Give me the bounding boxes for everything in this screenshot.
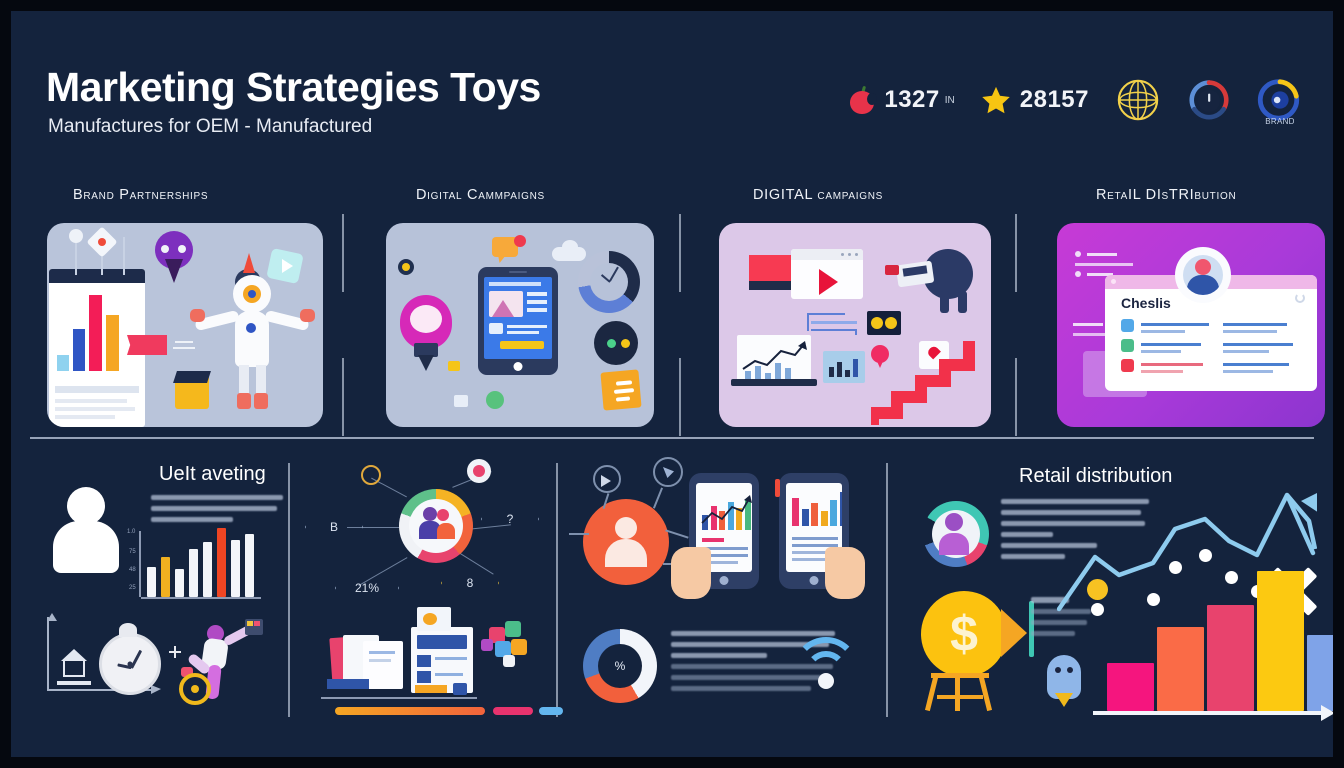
person-silhouette-icon <box>53 487 119 573</box>
page-subtitle: Manufactures for OEM - Manufactured <box>48 116 372 138</box>
dollar-coin-icon: $ <box>921 591 1007 677</box>
column-label-4: RetaIL DIsTRIbution <box>1096 187 1236 203</box>
panel-mobile-analytics: % <box>567 451 877 721</box>
gauge-icon[interactable] <box>1187 78 1231 122</box>
chart-node <box>1091 603 1104 616</box>
progress-bar-3 <box>539 707 563 715</box>
badge-apple[interactable]: 1327 IN <box>849 86 954 114</box>
divider-vertical-3b <box>1015 358 1017 436</box>
column-label-3: DIGITAL campaigns <box>753 187 883 203</box>
panel-unit-averaging: UeIt aveting 1.0 75 48 25 <box>31 451 287 721</box>
header-badges: 1327 IN 28157 <box>849 69 1303 131</box>
globe-icon[interactable] <box>1115 77 1161 123</box>
badge-apple-sup: IN <box>945 95 955 106</box>
hex-node-2: ? <box>481 493 539 545</box>
panel-retail-distribution: Retail distribution $ <box>897 451 1317 721</box>
column-label-2: Digital Cammpaigns <box>416 187 545 203</box>
divider-vertical-3a <box>1015 214 1017 292</box>
hex-node-1: B <box>305 501 363 553</box>
badge-star-value: 28157 <box>1020 86 1089 114</box>
panel1-chart-xaxis <box>141 597 261 599</box>
percent-donut-label: % <box>615 659 626 673</box>
panel4-chart-axis <box>1093 711 1329 715</box>
star-icon <box>981 85 1011 115</box>
divider-vertical-1a <box>342 214 344 292</box>
divider-vertical-2a <box>679 214 681 292</box>
divider-vertical-b1 <box>288 463 290 717</box>
brand-logo-label: BRAND <box>1257 117 1303 126</box>
clock-icon <box>99 633 161 695</box>
divider-vertical-b3 <box>886 463 888 717</box>
panel1-chart-yaxis <box>139 531 141 597</box>
chart-node <box>1199 549 1212 562</box>
panel1-heading: UeIt aveting <box>159 463 266 486</box>
column-label-1: Brand Partnerships <box>73 187 208 203</box>
infographic-poster: Marketing Strategies Toys Manufactures f… <box>11 11 1333 757</box>
small-circle-1 <box>361 465 381 485</box>
card-brand-partnerships[interactable] <box>47 223 323 427</box>
hand-left-icon <box>671 547 711 599</box>
divider-vertical-2b <box>679 358 681 436</box>
projector-cone <box>1001 609 1027 657</box>
divider-horizontal <box>30 437 1314 439</box>
card-retail-distribution[interactable]: Cheslis <box>1057 223 1325 427</box>
badge-apple-value: 1327 <box>884 86 939 114</box>
divider-vertical-1b <box>342 358 344 436</box>
panel1-bar-chart <box>147 527 254 597</box>
card-digital-cammpaigns[interactable] <box>386 223 654 427</box>
progress-bar-2 <box>493 707 533 715</box>
panel1-body-text <box>151 495 285 528</box>
hex-node-4: 8 <box>441 557 499 609</box>
header: Marketing Strategies Toys Manufactures f… <box>11 11 1333 161</box>
card4-heading: Cheslis <box>1121 295 1171 311</box>
rocket-icon <box>1047 655 1081 699</box>
progress-bar-1 <box>335 707 485 715</box>
panel-network-hexagons: B ? 21% 8 <box>299 451 549 721</box>
chart-node-highlight <box>1087 579 1108 600</box>
card-digital-campaigns[interactable] <box>719 223 991 427</box>
percent-donut: % <box>583 629 657 703</box>
hand-right-icon <box>825 547 865 599</box>
panel4-bar-chart <box>1107 571 1333 711</box>
page-title: Marketing Strategies Toys <box>46 64 541 111</box>
brand-logo-icon[interactable]: BRAND <box>1257 77 1303 123</box>
badge-star[interactable]: 28157 <box>981 85 1089 115</box>
apple-icon <box>849 86 875 114</box>
divider-vertical-b2 <box>556 463 558 717</box>
